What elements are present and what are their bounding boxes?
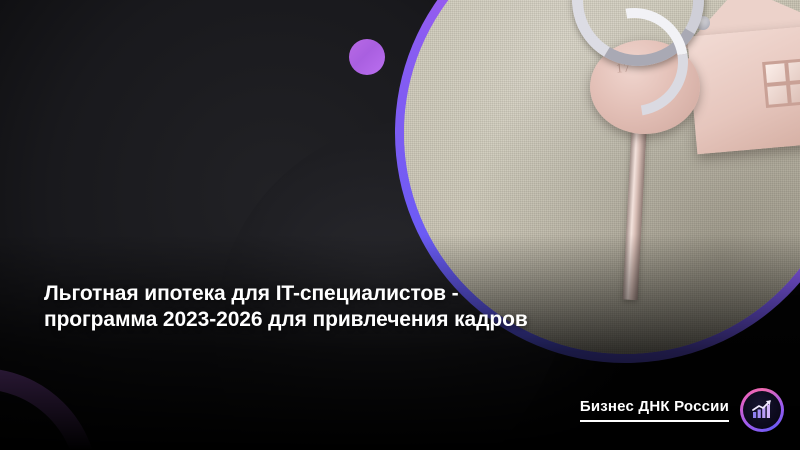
bottom-vignette — [0, 0, 800, 450]
brand-block[interactable]: Бизнес ДНК России — [580, 388, 784, 432]
promo-card: 17 Льготная ипотека для IT-специалистов … — [0, 0, 800, 450]
growth-chart-arrow-icon — [749, 397, 775, 423]
brand-logo-inner — [743, 391, 781, 429]
brand-name: Бизнес ДНК России — [580, 398, 729, 422]
page-title: Льготная ипотека для IT-специалистов - п… — [44, 281, 564, 334]
brand-logo[interactable] — [740, 388, 784, 432]
